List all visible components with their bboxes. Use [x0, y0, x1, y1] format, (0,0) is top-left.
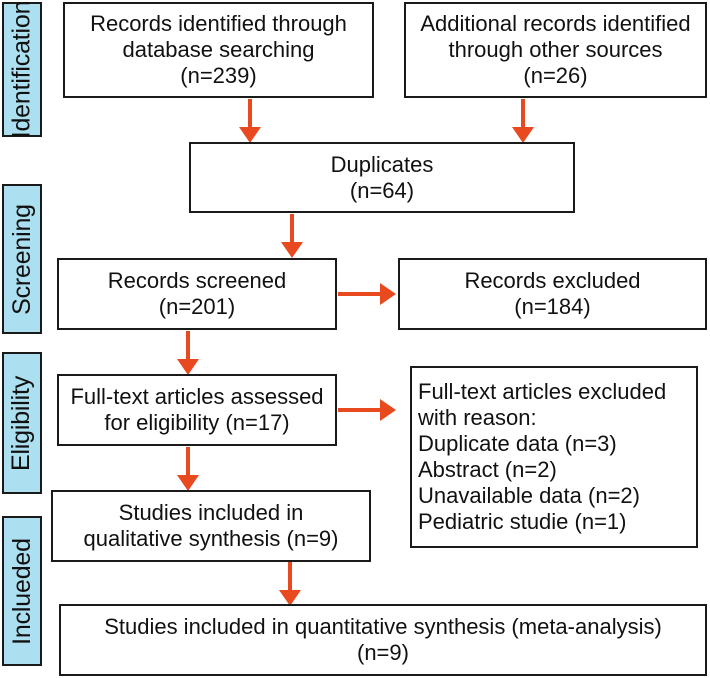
- arrow-duplicates-to-records-screened: [280, 214, 304, 258]
- arrow-records-identified-to-duplicates: [238, 99, 262, 143]
- fulltext-excluded-reason-duplicate-data: Duplicate data (n=3): [418, 431, 617, 457]
- arrow-shaft: [186, 447, 190, 477]
- fulltext-excluded-line-1: Full-text articles excluded: [418, 379, 666, 405]
- stage-band-screening: Screening: [2, 184, 42, 334]
- fulltext-excluded-reason-unavailable-data: Unavailable data (n=2): [418, 483, 640, 509]
- arrow-records-screened-to-records-excluded: [338, 282, 396, 306]
- additional-records-count: (n=26): [523, 63, 587, 89]
- box-additional-records-other-sources: Additional records identified through ot…: [404, 2, 707, 98]
- duplicates-count: (n=64): [350, 178, 414, 204]
- qualitative-synthesis-line-1: Studies included in: [119, 500, 304, 526]
- arrow-shaft: [338, 408, 382, 412]
- arrow-shaft: [288, 562, 292, 592]
- box-fulltext-articles-excluded: Full-text articles excluded with reason:…: [410, 366, 698, 548]
- records-excluded-label: Records excluded: [464, 268, 640, 294]
- fulltext-excluded-reason-abstract: Abstract (n=2): [418, 457, 557, 483]
- fulltext-excluded-reason-pediatric-studie: Pediatric studie (n=1): [418, 509, 627, 535]
- stage-band-included: Inclueded: [2, 516, 42, 666]
- fulltext-excluded-line-2: with reason:: [418, 405, 537, 431]
- arrow-shaft: [248, 99, 252, 129]
- stage-label-identification: Identification: [10, 1, 35, 139]
- arrow-head: [380, 283, 396, 305]
- records-screened-label: Records screened: [108, 268, 287, 294]
- records-identified-count: (n=239): [180, 63, 256, 89]
- arrow-head: [177, 359, 199, 375]
- quantitative-synthesis-count: (n=9): [357, 640, 409, 666]
- stage-label-included: Inclueded: [10, 538, 35, 645]
- box-fulltext-articles-assessed: Full-text articles assessed for eligibil…: [57, 374, 337, 446]
- stage-band-eligibility: Eligibility: [2, 352, 42, 494]
- records-identified-line-1: Records identified through: [90, 11, 347, 37]
- box-records-identified-database: Records identified through database sear…: [63, 2, 374, 98]
- stage-label-screening: Screening: [10, 204, 35, 315]
- fulltext-assessed-line-2: for eligibility (n=17): [104, 410, 289, 436]
- stage-band-identification: Identification: [2, 2, 42, 137]
- records-identified-line-2: database searching: [122, 37, 314, 63]
- prisma-flow-diagram: Identification Screening Eligibility Inc…: [0, 0, 710, 678]
- arrow-fulltext-assessed-to-fulltext-excluded: [338, 398, 396, 422]
- records-excluded-count: (n=184): [514, 294, 590, 320]
- arrow-head: [281, 242, 303, 258]
- arrow-fulltext-assessed-to-qualitative-synthesis: [176, 447, 200, 491]
- duplicates-label: Duplicates: [331, 152, 434, 178]
- box-records-screened: Records screened (n=201): [57, 258, 337, 330]
- arrow-shaft: [186, 331, 190, 361]
- quantitative-synthesis-line-1: Studies included in quantitative synthes…: [104, 614, 662, 640]
- arrow-head: [380, 399, 396, 421]
- arrow-qualitative-to-quantitative-synthesis: [278, 562, 302, 606]
- box-qualitative-synthesis: Studies included in qualitative synthesi…: [51, 490, 371, 562]
- arrow-records-screened-to-fulltext-assessed: [176, 331, 200, 375]
- fulltext-assessed-line-1: Full-text articles assessed: [70, 384, 323, 410]
- additional-records-line-2: through other sources: [448, 37, 662, 63]
- box-duplicates: Duplicates (n=64): [189, 142, 575, 213]
- arrow-shaft: [521, 99, 525, 129]
- arrow-shaft: [290, 214, 294, 244]
- box-quantitative-synthesis: Studies included in quantitative synthes…: [59, 604, 707, 676]
- arrow-shaft: [338, 292, 382, 296]
- arrow-additional-records-to-duplicates: [511, 99, 535, 143]
- records-screened-count: (n=201): [159, 294, 235, 320]
- box-records-excluded: Records excluded (n=184): [398, 258, 707, 330]
- arrow-head: [177, 475, 199, 491]
- additional-records-line-1: Additional records identified: [420, 11, 690, 37]
- qualitative-synthesis-line-2: qualitative synthesis (n=9): [84, 526, 339, 552]
- arrow-head: [239, 127, 261, 143]
- stage-label-eligibility: Eligibility: [10, 375, 35, 470]
- arrow-head: [512, 127, 534, 143]
